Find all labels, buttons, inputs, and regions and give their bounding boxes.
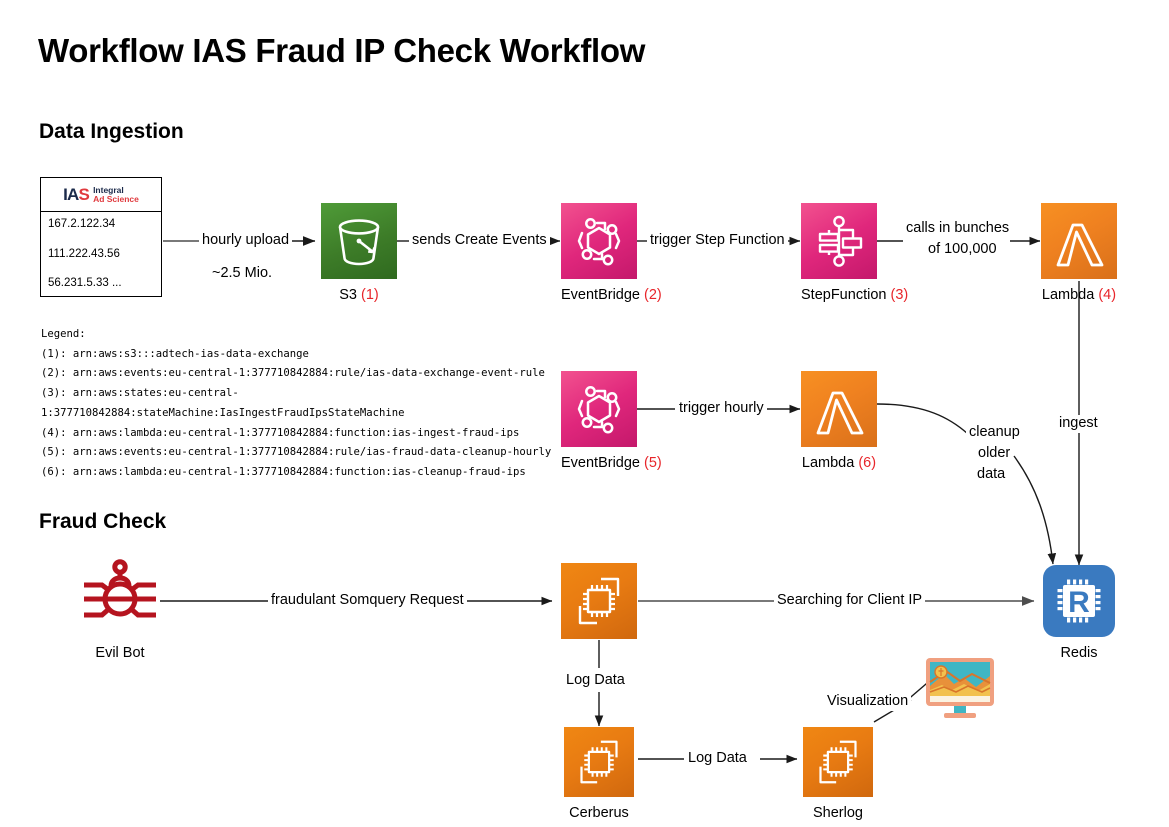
legend-entry: 1:377710842884:stateMachine:IasIngestFra… <box>41 404 541 424</box>
node-label: Lambda (6) <box>801 455 877 471</box>
node-lambda-2[interactable]: Lambda (6) <box>801 371 877 471</box>
node-label: Redis <box>1041 645 1117 661</box>
eventbridge-icon <box>561 203 637 279</box>
edge-label-calls-in-bunches-line1: calls in bunches <box>903 220 1012 238</box>
edge-label-log-data-down: Log Data <box>563 672 628 690</box>
legend-heading: Legend: <box>41 325 541 345</box>
node-redis[interactable]: R Redis <box>1041 565 1117 661</box>
ec2-instance-icon <box>803 727 873 797</box>
node-gateway[interactable] <box>561 563 637 639</box>
legend-entry: (6): arn:aws:lambda:eu-central-1:3777108… <box>41 463 541 483</box>
node-label: StepFunction (3) <box>801 287 877 303</box>
lambda-icon <box>1041 203 1117 279</box>
edge-label-calls-in-bunches-line2: of 100,000 <box>925 241 1000 259</box>
stepfunction-icon <box>801 203 877 279</box>
node-evil-bot[interactable]: Evil Bot <box>80 557 160 661</box>
node-label: Cerberus <box>561 805 637 821</box>
node-label: EventBridge (2) <box>561 287 637 303</box>
edge-label-trigger-step-function: trigger Step Function <box>647 232 788 250</box>
node-sherlog[interactable]: Sherlog <box>803 727 873 821</box>
list-item: 167.2.122.34 <box>48 219 161 231</box>
node-label: Lambda (4) <box>1041 287 1117 303</box>
legend: Legend: (1): arn:aws:s3:::adtech-ias-dat… <box>41 325 541 483</box>
legend-entry: (4): arn:aws:lambda:eu-central-1:3777108… <box>41 424 541 444</box>
edge-label-trigger-hourly: trigger hourly <box>676 400 767 418</box>
legend-entry: (1): arn:aws:s3:::adtech-ias-data-exchan… <box>41 345 541 365</box>
edge-label-cleanup-line3: data <box>974 466 1008 484</box>
ias-logo: IAS Integral Ad Science <box>41 178 161 212</box>
ias-source-box: IAS Integral Ad Science 167.2.122.34 111… <box>40 177 162 297</box>
legend-entry: (3): arn:aws:states:eu-central- <box>41 384 541 404</box>
list-item: 56.231.5.33 ... <box>48 278 161 290</box>
svg-text:R: R <box>1068 586 1090 619</box>
section-heading-data-ingestion: Data Ingestion <box>39 120 184 144</box>
edge-label-log-data-right: Log Data <box>685 750 750 768</box>
node-label: S3 (1) <box>321 287 397 303</box>
edge-label-hourly-upload: hourly upload <box>199 232 292 250</box>
node-eventbridge-2[interactable]: EventBridge (5) <box>561 371 637 471</box>
edge-label-fraud-request: fraudulant Somquery Request <box>268 592 467 610</box>
edge-label-cleanup-line2: older <box>975 445 1013 463</box>
edge-label-ingest: ingest <box>1056 415 1101 433</box>
section-heading-fraud-check: Fraud Check <box>39 510 166 534</box>
edge-label-visualization: Visualization <box>824 693 911 711</box>
ip-address-list: 167.2.122.34 111.222.43.56 56.231.5.33 .… <box>41 212 161 290</box>
node-label: Sherlog <box>803 805 873 821</box>
node-cerberus[interactable]: Cerberus <box>561 727 637 821</box>
ec2-instance-icon <box>561 563 637 639</box>
node-lambda-1[interactable]: Lambda (4) <box>1041 203 1117 303</box>
eventbridge-icon <box>561 371 637 447</box>
ias-logo-mark: IAS <box>63 186 89 203</box>
legend-entry: (2): arn:aws:events:eu-central-1:3777108… <box>41 364 541 384</box>
list-item: 111.222.43.56 <box>48 249 161 261</box>
lambda-icon <box>801 371 877 447</box>
edge-label-cleanup-line1: cleanup <box>966 424 1023 442</box>
node-stepfunction[interactable]: StepFunction (3) <box>801 203 877 303</box>
s3-bucket-icon <box>321 203 397 279</box>
edge-label-volume: ~2.5 Mio. <box>209 265 275 283</box>
node-label: Evil Bot <box>80 645 160 661</box>
edge-label-searching-client-ip: Searching for Client IP <box>774 592 925 610</box>
monitor-chart-icon <box>920 654 1000 724</box>
node-s3[interactable]: S3 (1) <box>321 203 397 303</box>
bug-icon <box>80 557 160 637</box>
node-dashboard[interactable] <box>920 654 1000 724</box>
diagram-canvas: Workflow IAS Fraud IP Check Workflow Dat… <box>0 0 1169 827</box>
ias-logo-wordmark: Integral Ad Science <box>93 186 139 204</box>
node-eventbridge-1[interactable]: EventBridge (2) <box>561 203 637 303</box>
redis-icon: R <box>1043 565 1115 637</box>
legend-entry: (5): arn:aws:events:eu-central-1:3777108… <box>41 443 541 463</box>
edge-label-create-events: sends Create Events <box>409 232 550 250</box>
page-title: Workflow IAS Fraud IP Check Workflow <box>38 32 645 70</box>
ec2-instance-icon <box>564 727 634 797</box>
node-label: EventBridge (5) <box>561 455 637 471</box>
